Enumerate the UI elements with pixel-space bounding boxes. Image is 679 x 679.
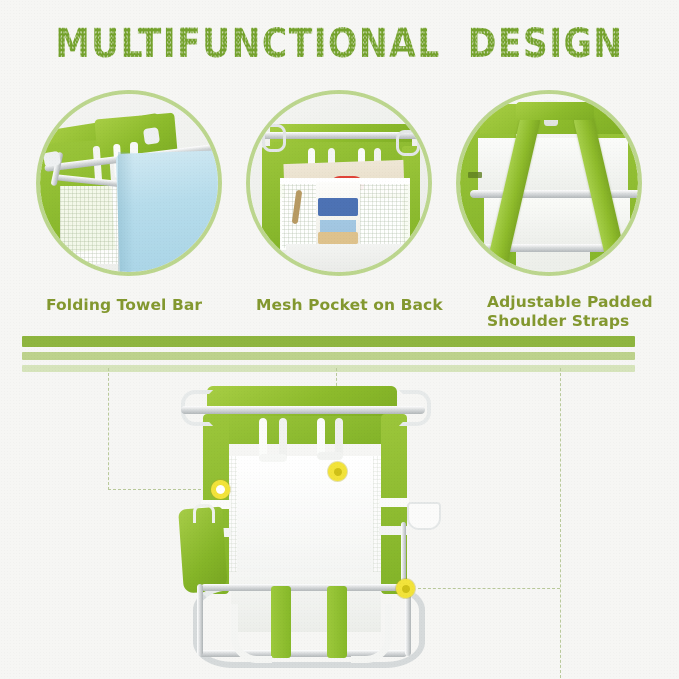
snack-package-image <box>318 232 358 244</box>
caption-line-2: Shoulder Straps <box>487 312 667 331</box>
callout-guide-left-vertical <box>108 368 109 490</box>
base-frame-crossbar <box>201 584 407 591</box>
feature-caption-mesh-pocket-on-back: Mesh Pocket on Back <box>256 296 443 315</box>
callout-guide-right-vertical <box>560 368 561 678</box>
base-frame-left-leg <box>197 584 203 656</box>
snack-package-label <box>318 198 358 216</box>
caption-line-1: Adjustable Padded <box>487 293 667 312</box>
feature-photo-mesh-pocket-on-back <box>246 90 432 276</box>
divider-bar-3 <box>22 365 635 372</box>
callout-marker-center <box>328 462 347 481</box>
feature-photo-adjustable-padded-shoulder-straps <box>456 90 642 276</box>
towel-shadow <box>118 152 134 272</box>
fabric-label <box>468 172 482 178</box>
mesh-panel <box>60 186 118 264</box>
strap-top-pad <box>516 102 594 120</box>
hinge-right <box>143 127 160 145</box>
photo-inner-2 <box>250 94 428 272</box>
cup-holder <box>407 502 441 530</box>
back-fabric-upper <box>215 412 391 444</box>
webbing-loop-left <box>231 604 272 663</box>
feature-caption-adjustable-padded-shoulder-straps: Adjustable Padded Shoulder Straps <box>487 293 667 331</box>
section-divider <box>22 336 635 372</box>
feature-photo-folding-towel-bar <box>36 90 222 276</box>
recline-buckle-right-1 <box>379 498 409 507</box>
divider-bar-2 <box>22 352 635 360</box>
callout-marker-bottom-right <box>396 579 415 598</box>
shoulder-strap-left <box>262 146 280 258</box>
cup-holder-arm <box>401 522 406 582</box>
photo-inner-3 <box>460 94 638 272</box>
seat-strap-left <box>271 586 291 658</box>
hinge-left <box>43 151 61 168</box>
cooler-pouch-hook <box>193 504 215 523</box>
callout-marker-left <box>211 480 230 499</box>
photo-inner-1 <box>40 94 218 272</box>
frame-rail-mid <box>470 190 638 198</box>
divider-bar-1 <box>22 336 635 347</box>
feature-caption-folding-towel-bar: Folding Towel Bar <box>46 296 202 315</box>
seat-strap-right <box>327 586 347 658</box>
carry-handle-right-base <box>317 452 343 460</box>
mesh-back-panel <box>227 456 383 572</box>
snack-package-band <box>320 220 356 232</box>
frame-hook-left <box>262 124 286 152</box>
infographic-canvas: MULTIFUNCTIONAL DESIGN <box>0 0 679 679</box>
main-product-photo <box>175 378 465 679</box>
towel-bar-rail <box>181 406 425 414</box>
chair-seat-panel <box>286 244 406 272</box>
page-title: MULTIFUNCTIONAL DESIGN <box>14 22 666 66</box>
carry-handle-left-base <box>259 454 287 462</box>
frame-hook-right <box>396 130 420 156</box>
